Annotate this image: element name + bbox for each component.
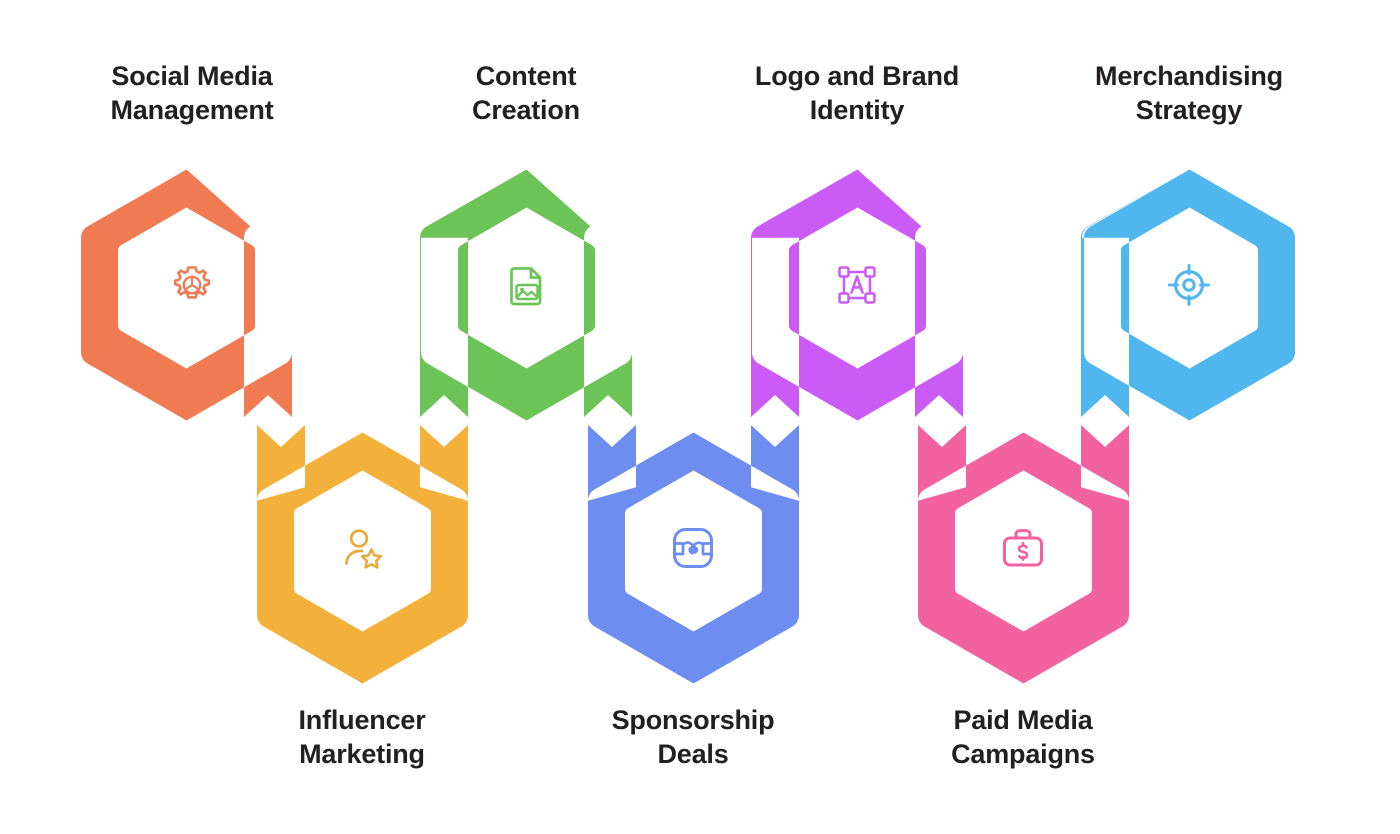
label-merchandising-strategy: Merchandising Strategy [1039,60,1339,128]
icon-slot-content-creation [512,269,541,305]
hexagon-shape-paid-media-campaigns [918,425,1129,684]
node-sponsorship-deals[interactable] [588,425,799,684]
node-social-media-management[interactable] [81,170,292,421]
node-paid-media-campaigns[interactable] [918,425,1129,684]
node-influencer-marketing[interactable] [257,425,468,684]
icon-slot-logo-and-brand-identity [840,268,875,303]
hexagon-shape-influencer-marketing [257,425,468,684]
hexagon-shape-merchandising-strategy [1081,170,1295,421]
node-logo-and-brand-identity[interactable] [751,170,963,421]
icon-slot-sponsorship-deals [675,530,712,567]
icon-slot-influencer-marketing [347,531,381,568]
label-content-creation: Content Creation [376,60,676,128]
node-content-creation[interactable] [420,170,632,421]
label-influencer-marketing: Influencer Marketing [212,704,512,772]
hexagon-shape-sponsorship-deals [588,425,799,684]
label-logo-and-brand-identity: Logo and Brand Identity [707,60,1007,128]
label-sponsorship-deals: Sponsorship Deals [543,704,843,772]
icon-slot-social-media-management [175,268,209,298]
node-merchandising-strategy[interactable] [1081,170,1295,421]
icon-slot-merchandising-strategy [1170,266,1209,305]
label-paid-media-campaigns: Paid Media Campaigns [873,704,1173,772]
label-social-media-management: Social Media Management [42,60,342,128]
hexagon-shape-logo-and-brand-identity [751,170,963,421]
icon-slot-paid-media-campaigns [1005,531,1042,565]
